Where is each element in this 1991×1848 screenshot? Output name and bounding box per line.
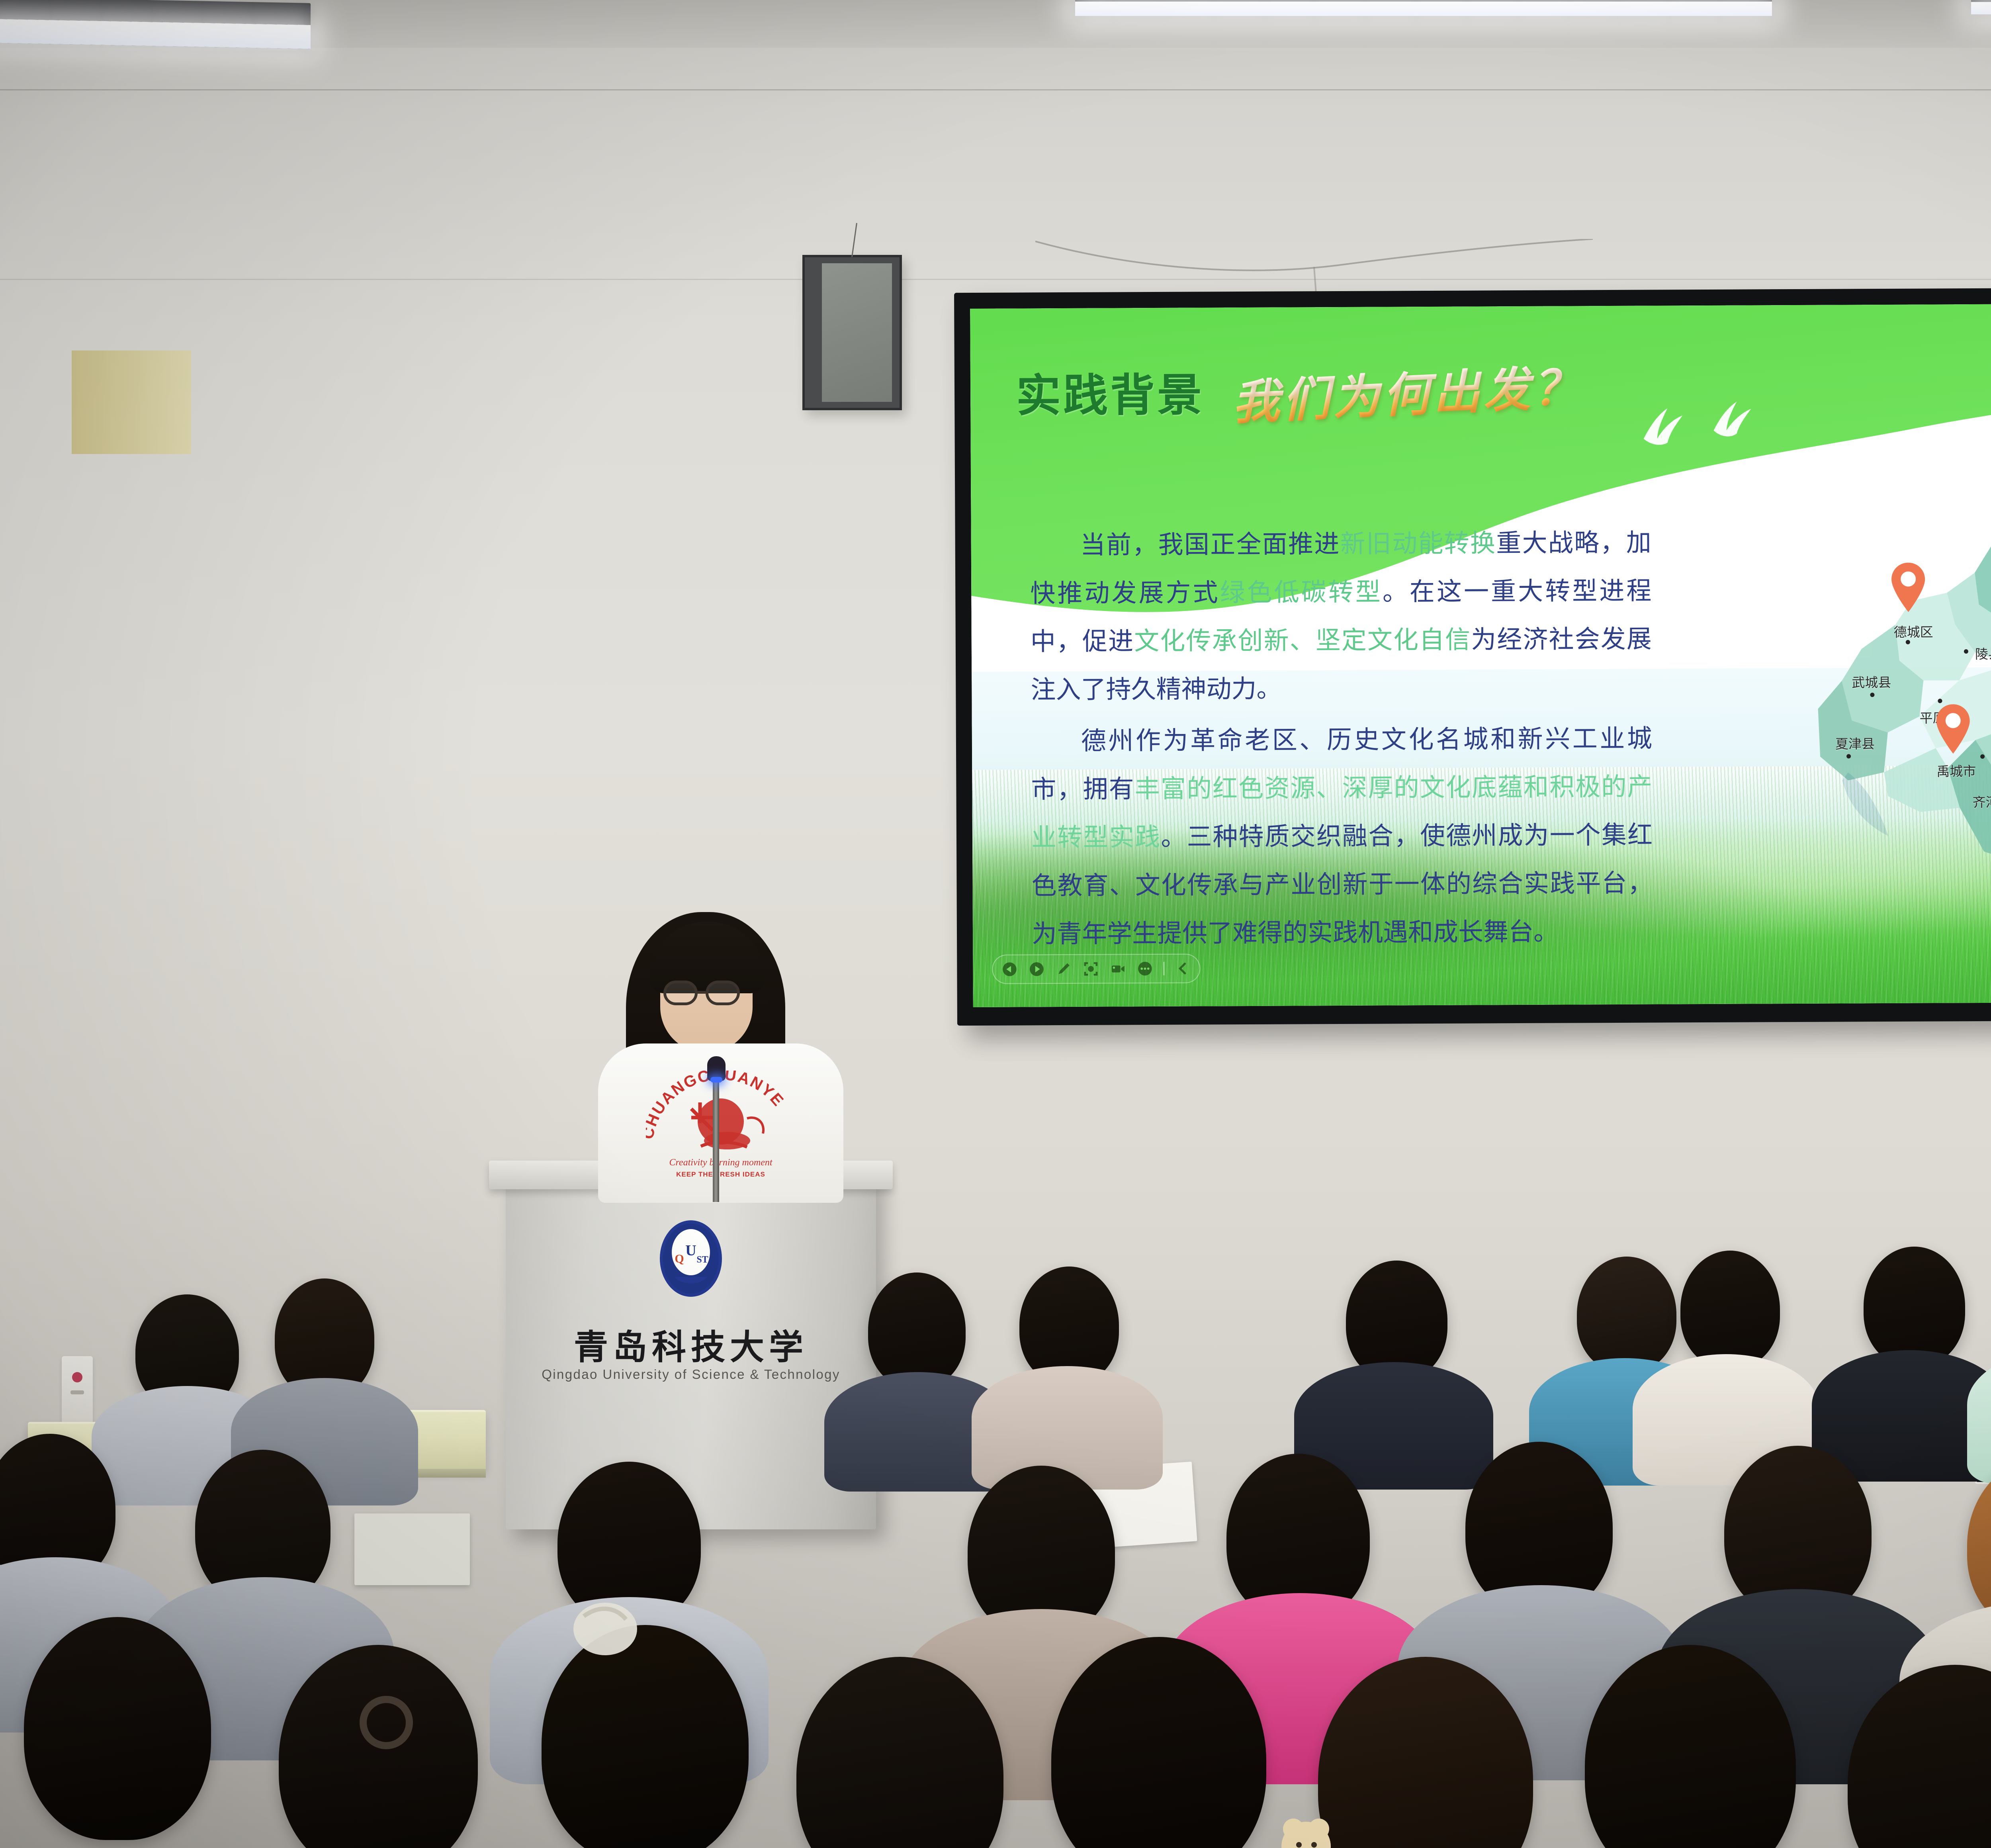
light-tube [1075,2,1772,16]
wall-seam-upper [0,89,1991,90]
map-dot-decheng [1906,640,1910,644]
next-slide-button[interactable] [1028,960,1045,978]
map-pin-yucheng[interactable] [1934,703,1973,754]
wall-speaker-left [802,255,902,410]
map-label-yucheng: 禹城市 [1936,761,1976,780]
map-label-qihe: 齐河县 [1972,791,1991,810]
projection-screen[interactable]: 实践背景 我们为何出发？ 当前，我国正全面推进新旧动能转换重大战略，加快推动发展… [954,287,1991,1026]
pen-tool-button[interactable] [1055,960,1072,978]
map-dot-wucheng [1870,693,1874,697]
toolbar-separator [1163,962,1164,975]
slide-subtitle: 我们为何出发？ [1231,348,1585,433]
audience-head-foreground [24,1617,211,1840]
more-options-button[interactable] [1136,960,1154,977]
zoom-spotlight-button[interactable] [1082,960,1099,978]
eyeglasses-right-lens [706,981,740,1005]
wall-seam-lower [0,279,1991,280]
dove-icon [1619,364,1787,460]
ceiling-cable [1035,239,1593,299]
svg-text:Creativity burning moment: Creativity burning moment [669,1157,773,1168]
audience-seating: Anta Sports PEACE FOR ALL H&M [0,1187,1991,1848]
map-label-decheng: 德城区 [1894,621,1933,640]
audience-head [1967,1458,1991,1633]
previous-slide-button[interactable] [1001,961,1018,978]
map-label-wucheng: 武城县 [1852,672,1891,691]
microphone-led-indicator [710,1077,722,1083]
ceiling-light-left [0,0,311,49]
slide-title: 实践背景 [1016,359,1205,425]
ceiling-light-center [1075,0,1772,16]
microphone-stand [713,1071,719,1202]
plush-toy [1270,1808,1342,1848]
audience-head [868,1272,966,1388]
video-camera-button[interactable] [1109,960,1127,977]
map-dot-xiajin [1846,754,1851,758]
slide-header: 实践背景 我们为何出发？ [970,303,1991,476]
hair-clip-accessory [565,1593,645,1665]
presenter-speaker: CHUANGCHUANYE Creativity burning moment … [593,912,848,1199]
map-label-lingxian: 陵县 [1975,643,1991,662]
map-dot-pingyuan [1938,699,1942,703]
presentation-toolbar[interactable] [992,954,1200,984]
ceiling-light-right [1971,0,1991,14]
map-dot-yucheng [1980,754,1985,759]
paper-sheet [354,1513,470,1585]
presentation-slide[interactable]: 实践背景 我们为何出发？ 当前，我国正全面推进新旧动能转换重大战略，加快推动发展… [970,303,1991,1007]
slide-body-text: 当前，我国正全面推进新旧动能转换重大战略，加快推动发展方式绿色低碳转型。在这一重… [1030,519,1653,961]
collapse-toolbar-button[interactable] [1174,960,1191,977]
dezhou-map[interactable]: 宁津县 乐陵市 庆云县 德城区 陵县 武城县 临邑县 平原县 夏 [1787,492,1991,924]
map-dot-lingxian [1964,649,1968,654]
eyeglasses-bridge [698,991,706,994]
light-tube [1971,2,1991,14]
svg-text:KEEP THE FRESH IDEAS: KEEP THE FRESH IDEAS [676,1171,765,1178]
map-pin-decheng[interactable] [1889,562,1928,613]
eyeglasses-left-lens [663,981,698,1005]
map-label-xiajin: 夏津县 [1835,733,1875,752]
audience-head [1864,1247,1965,1366]
audience-head [1680,1251,1780,1368]
podium-base [72,350,191,454]
hair-tie-accessory [350,1689,422,1756]
slide-paragraph-1: 当前，我国正全面推进新旧动能转换重大战略，加快推动发展方式绿色低碳转型。在这一重… [1030,519,1652,715]
audience-head [1577,1257,1676,1372]
tshirt-graphic-icon: Creativity burning moment KEEP THE FRESH… [653,1071,788,1190]
slide-paragraph-2: 德州作为革命老区、历史文化名城和新兴工业城市，拥有丰富的红色资源、深厚的文化底蕴… [1031,715,1653,958]
lecture-hall-scene: 实践背景 我们为何出发？ 当前，我国正全面推进新旧动能转换重大战略，加快推动发展… [0,0,1991,1848]
screen-bezel: 实践背景 我们为何出发？ 当前，我国正全面推进新旧动能转换重大战略，加快推动发展… [954,287,1991,1026]
